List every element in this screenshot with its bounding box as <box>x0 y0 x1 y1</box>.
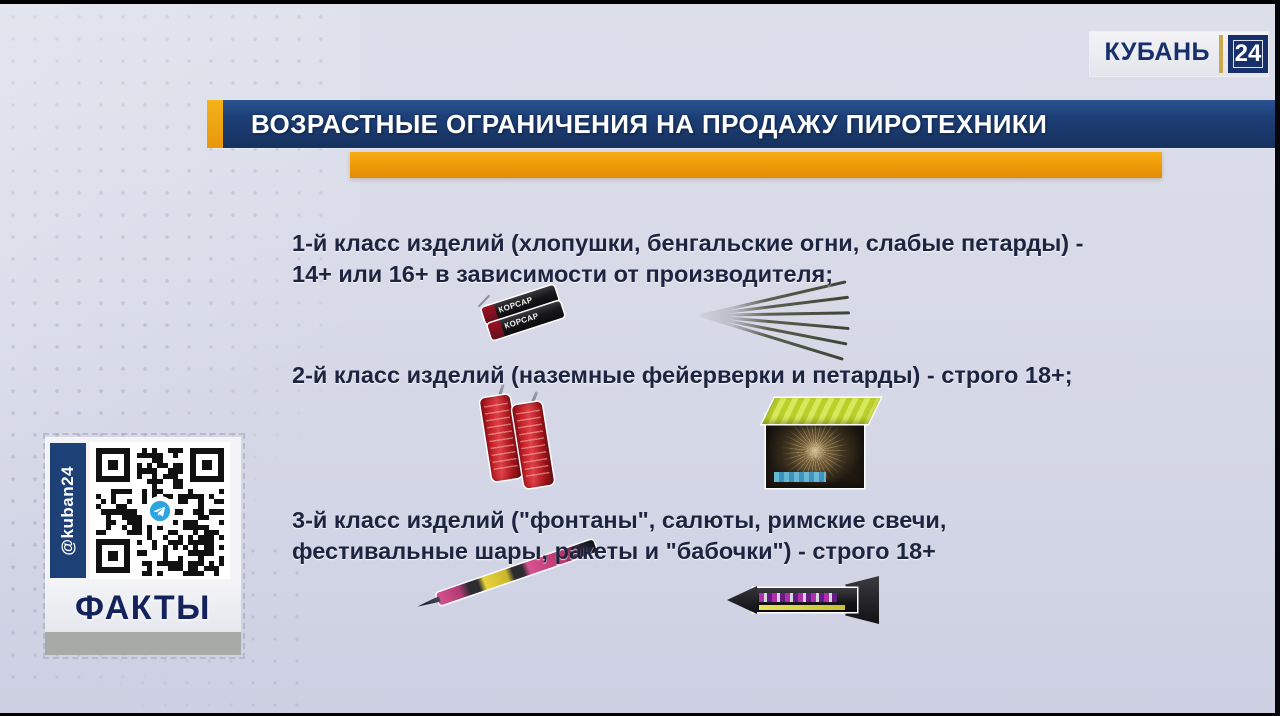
qr-code[interactable] <box>90 442 230 579</box>
firework-battery-illustration <box>762 398 872 494</box>
letterbox-right <box>1275 0 1280 716</box>
qr-finder-icon <box>96 448 130 482</box>
page-title: ВОЗРАСТНЫЕ ОГРАНИЧЕНИЯ НА ПРОДАЖУ ПИРОТЕ… <box>223 109 1047 140</box>
program-brand-block: @kuban24 ФАКТЫ <box>45 437 241 655</box>
korsar-petards-illustration: КОРСАР КОРСАР <box>470 288 580 350</box>
list-item: 2-й класс изделий (наземные фейерверки и… <box>292 360 1073 391</box>
title-accent-strip <box>207 100 223 148</box>
item-line: 14+ или 16+ в зависимости от производите… <box>292 259 1083 290</box>
title-under-bar <box>350 152 1162 178</box>
channel-logo-divider <box>1219 35 1223 73</box>
social-handle-label: @kuban24 <box>58 466 78 556</box>
qr-finder-icon <box>190 448 224 482</box>
qr-finder-icon <box>96 539 130 573</box>
letterbox-top <box>0 0 1280 4</box>
item-line: фестивальные шары, ракеты и "бабочки") -… <box>292 536 946 567</box>
brand-bottom-strip <box>45 632 241 655</box>
channel-logo-number: 24 <box>1228 35 1268 73</box>
lower-third-title-bar: ВОЗРАСТНЫЕ ОГРАНИЧЕНИЯ НА ПРОДАЖУ ПИРОТЕ… <box>207 100 1275 148</box>
list-item: 1-й класс изделий (хлопушки, бенгальские… <box>292 228 1083 290</box>
qr-card: @kuban24 <box>45 437 241 584</box>
red-petards-illustration <box>480 390 590 495</box>
item-line: 2-й класс изделий (наземные фейерверки и… <box>292 360 1073 391</box>
sparklers-illustration <box>700 280 885 352</box>
telegram-icon <box>145 496 175 526</box>
program-name: ФАКТЫ <box>75 589 211 628</box>
program-name-plate: ФАКТЫ <box>45 584 241 632</box>
list-item: 3-й класс изделий ("фонтаны", салюты, ри… <box>292 505 946 567</box>
social-handle-tag: @kuban24 <box>50 443 86 578</box>
channel-logo: КУБАНЬ 24 <box>1090 32 1268 76</box>
rocket-illustration <box>725 568 890 638</box>
item-line: 1-й класс изделий (хлопушки, бенгальские… <box>292 228 1083 259</box>
channel-logo-word: КУБАНЬ <box>1104 35 1219 73</box>
broadcast-screen: КУБАНЬ 24 ВОЗРАСТНЫЕ ОГРАНИЧЕНИЯ НА ПРОД… <box>0 0 1280 716</box>
item-line: 3-й класс изделий ("фонтаны", салюты, ри… <box>292 505 946 536</box>
roman-candle-illustration <box>428 565 628 637</box>
